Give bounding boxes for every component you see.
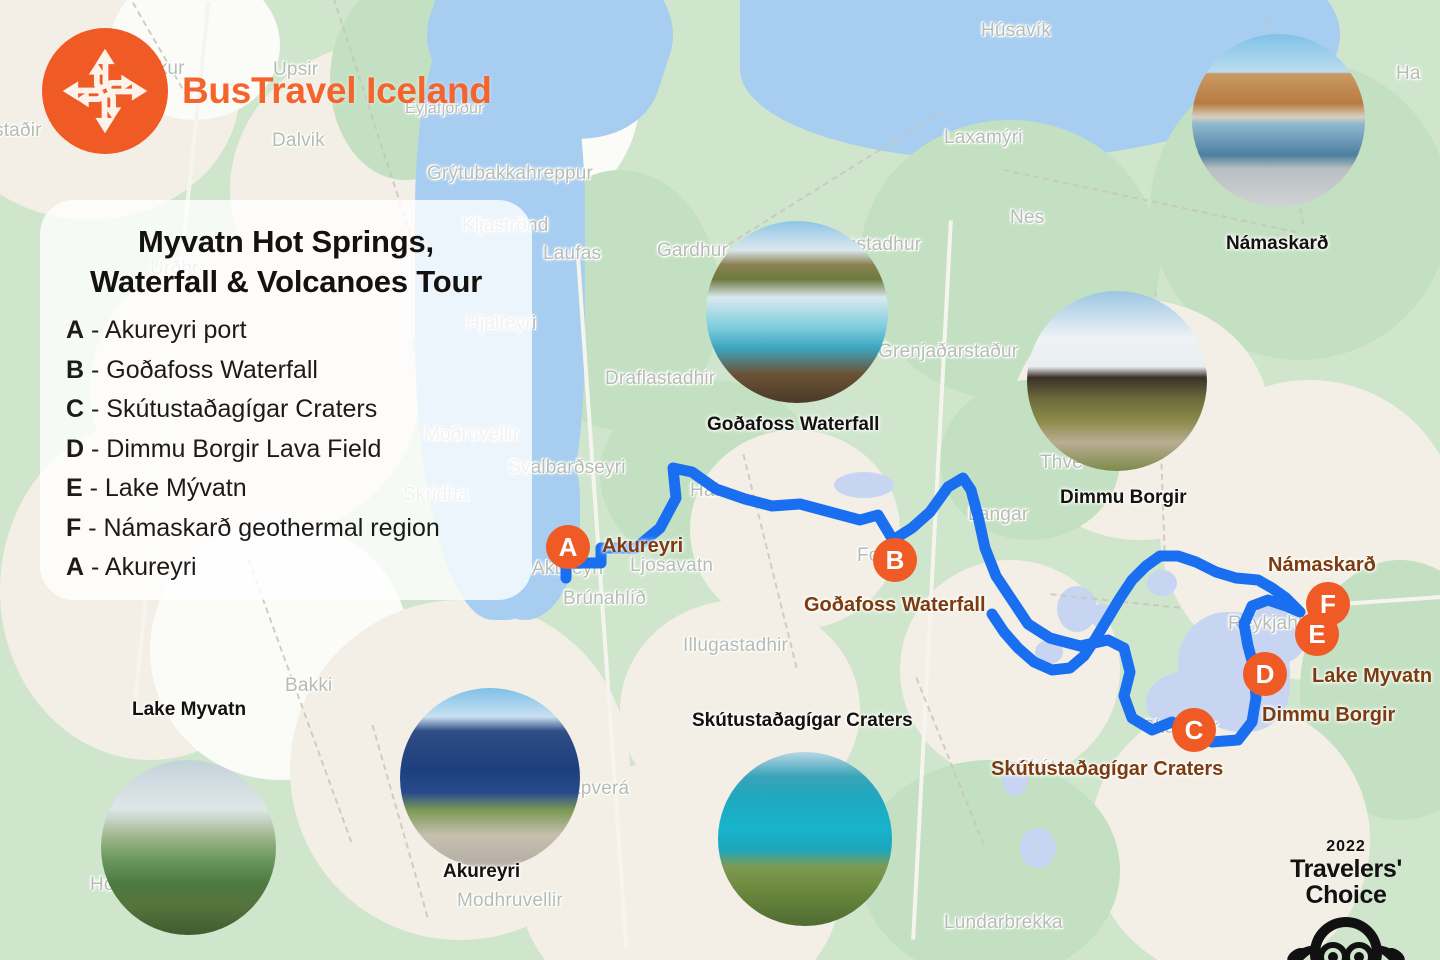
brand-lockup: BusTravel Iceland	[42, 28, 492, 154]
map-marker-label-f: Námaskarð	[1268, 554, 1376, 577]
photo-caption-lakemyvatn: Lake Myvatn	[132, 699, 246, 721]
photo-circle-skutustadagigar	[718, 752, 892, 926]
legend-item-label: - Goðafoss Waterfall	[84, 356, 318, 384]
photo-circle-dimmuborgir	[1027, 291, 1207, 471]
photo-image	[706, 221, 888, 403]
photo-image	[1192, 34, 1365, 207]
photo-circle-godafoss	[706, 221, 888, 403]
map-marker-f[interactable]: F	[1306, 582, 1350, 626]
photo-caption-dimmuborgir: Dimmu Borgir	[1060, 487, 1187, 509]
legend-item-c-2: C - Skútustaðagígar Craters	[66, 390, 506, 430]
map-marker-label-c: Skútustaðagígar Craters	[991, 758, 1223, 781]
map-marker-label-b: Goðafoss Waterfall	[804, 594, 986, 617]
brand-name: BusTravel Iceland	[182, 70, 492, 112]
tour-legend-panel: Myvatn Hot Springs, Waterfall & Volcanoe…	[40, 200, 532, 600]
legend-item-a-0: A - Akureyri port	[66, 311, 506, 351]
legend-item-b-1: B - Goðafoss Waterfall	[66, 351, 506, 391]
map-marker-b[interactable]: B	[873, 538, 917, 582]
map-marker-label-a: Akureyri	[602, 535, 683, 558]
photo-caption-akureyri: Akureyri	[443, 861, 520, 883]
photo-circle-lakemyvatn	[101, 760, 276, 935]
legend-title-line1: Myvatn Hot Springs,	[138, 224, 434, 259]
photo-caption-namaskard: Námaskarð	[1226, 233, 1328, 255]
legend-item-letter: C	[66, 395, 84, 423]
tripadvisor-owl-icon	[1262, 911, 1430, 960]
map-marker-d[interactable]: D	[1243, 652, 1287, 696]
legend-item-label: - Lake Mývatn	[83, 474, 247, 502]
legend-item-letter: A	[66, 553, 84, 581]
legend-item-label: - Dimmu Borgir Lava Field	[84, 435, 381, 463]
legend-item-letter: B	[66, 356, 84, 384]
photo-caption-godafoss: Goðafoss Waterfall	[707, 414, 879, 436]
tour-map-graphic: staðirkkurUpsirDalvikGrýtubakkahreppurEy…	[0, 0, 1440, 960]
legend-item-label: - Akureyri port	[84, 316, 247, 344]
photo-image	[1027, 291, 1207, 471]
legend-title: Myvatn Hot Springs, Waterfall & Volcanoe…	[66, 222, 506, 301]
photo-caption-skutustadagigar: Skútustaðagígar Craters	[692, 710, 913, 732]
badge-year: 2022	[1262, 838, 1430, 856]
photo-image	[400, 688, 580, 868]
legend-title-line2: Waterfall & Volcanoes Tour	[66, 262, 506, 302]
legend-item-letter: D	[66, 435, 84, 463]
legend-item-letter: E	[66, 474, 83, 502]
badge-line1: Travelers'	[1262, 856, 1430, 882]
photo-image	[718, 752, 892, 926]
photo-image	[101, 760, 276, 935]
legend-item-f-5: F - Námaskarð geothermal region	[66, 509, 506, 549]
map-marker-label-e: Lake Myvatn	[1312, 665, 1432, 688]
legend-item-e-4: E - Lake Mývatn	[66, 469, 506, 509]
legend-item-d-3: D - Dimmu Borgir Lava Field	[66, 430, 506, 470]
legend-item-label: - Námaskarð geothermal region	[81, 514, 440, 542]
map-marker-label-d: Dimmu Borgir	[1262, 704, 1395, 727]
four-arrows-compass-icon	[42, 28, 168, 154]
legend-item-label: - Skútustaðagígar Craters	[84, 395, 377, 423]
legend-item-label: - Akureyri	[84, 553, 197, 581]
legend-item-letter: A	[66, 316, 84, 344]
photo-circle-akureyri	[400, 688, 580, 868]
tripadvisor-travelers-choice-badge: 2022 Travelers' Choice	[1262, 838, 1430, 960]
badge-line2: Choice	[1262, 882, 1430, 908]
legend-item-letter: F	[66, 514, 81, 542]
photo-circle-namaskard	[1192, 34, 1365, 207]
map-marker-c[interactable]: C	[1172, 708, 1216, 752]
map-marker-a[interactable]: A	[546, 525, 590, 569]
legend-item-a-6: A - Akureyri	[66, 548, 506, 588]
